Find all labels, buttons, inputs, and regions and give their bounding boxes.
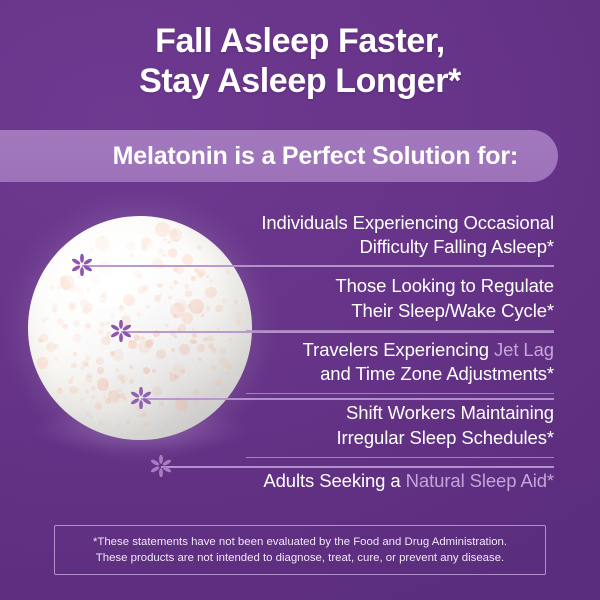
list-item: Shift Workers Maintaining Irregular Slee… <box>246 394 554 456</box>
list-item-line-2: Difficulty Falling Asleep* <box>246 235 554 259</box>
list-item: Those Looking to Regulate Their Sleep/Wa… <box>246 267 554 329</box>
asterisk-icon <box>71 254 93 276</box>
disclaimer-line-2: These products are not intended to diagn… <box>96 550 504 566</box>
benefits-list: Individuals Experiencing Occasional Diff… <box>246 204 554 500</box>
list-item: Adults Seeking a Natural Sleep Aid* <box>246 458 554 500</box>
subtitle-banner: Melatonin is a Perfect Solution for: <box>0 130 558 182</box>
list-item-line-1: Those Looking to Regulate <box>246 274 554 298</box>
list-item-line-2: Their Sleep/Wake Cycle* <box>246 299 554 323</box>
list-item-line-2: and Time Zone Adjustments* <box>246 362 554 386</box>
asterisk-icon <box>130 387 152 409</box>
list-item: Individuals Experiencing Occasional Diff… <box>246 204 554 266</box>
list-divider <box>246 393 554 394</box>
melatonin-benefits-poster: Fall Asleep Faster, Stay Asleep Longer* … <box>0 0 600 600</box>
disclaimer-box: *These statements have not been evaluate… <box>54 525 546 575</box>
headline-line-2: Stay Asleep Longer* <box>0 62 600 102</box>
list-divider <box>246 457 554 458</box>
subtitle-banner-label: Melatonin is a Perfect Solution for: <box>113 142 518 171</box>
list-divider <box>246 266 554 267</box>
list-item-line-1: Travelers Experiencing Jet Lag <box>246 338 554 362</box>
headline-line-1: Fall Asleep Faster, <box>0 22 600 62</box>
list-item-line-2: Irregular Sleep Schedules* <box>246 426 554 450</box>
disclaimer-line-1: *These statements have not been evaluate… <box>93 534 507 550</box>
list-item-line-1: Adults Seeking a Natural Sleep Aid* <box>246 469 554 493</box>
list-divider <box>246 330 554 331</box>
asterisk-icon <box>110 320 132 342</box>
list-item: Travelers Experiencing Jet Lag and Time … <box>246 331 554 393</box>
asterisk-icon <box>150 455 172 477</box>
list-item-line-1: Individuals Experiencing Occasional <box>246 211 554 235</box>
page-title: Fall Asleep Faster, Stay Asleep Longer* <box>0 22 600 102</box>
list-item-line-1: Shift Workers Maintaining <box>246 401 554 425</box>
